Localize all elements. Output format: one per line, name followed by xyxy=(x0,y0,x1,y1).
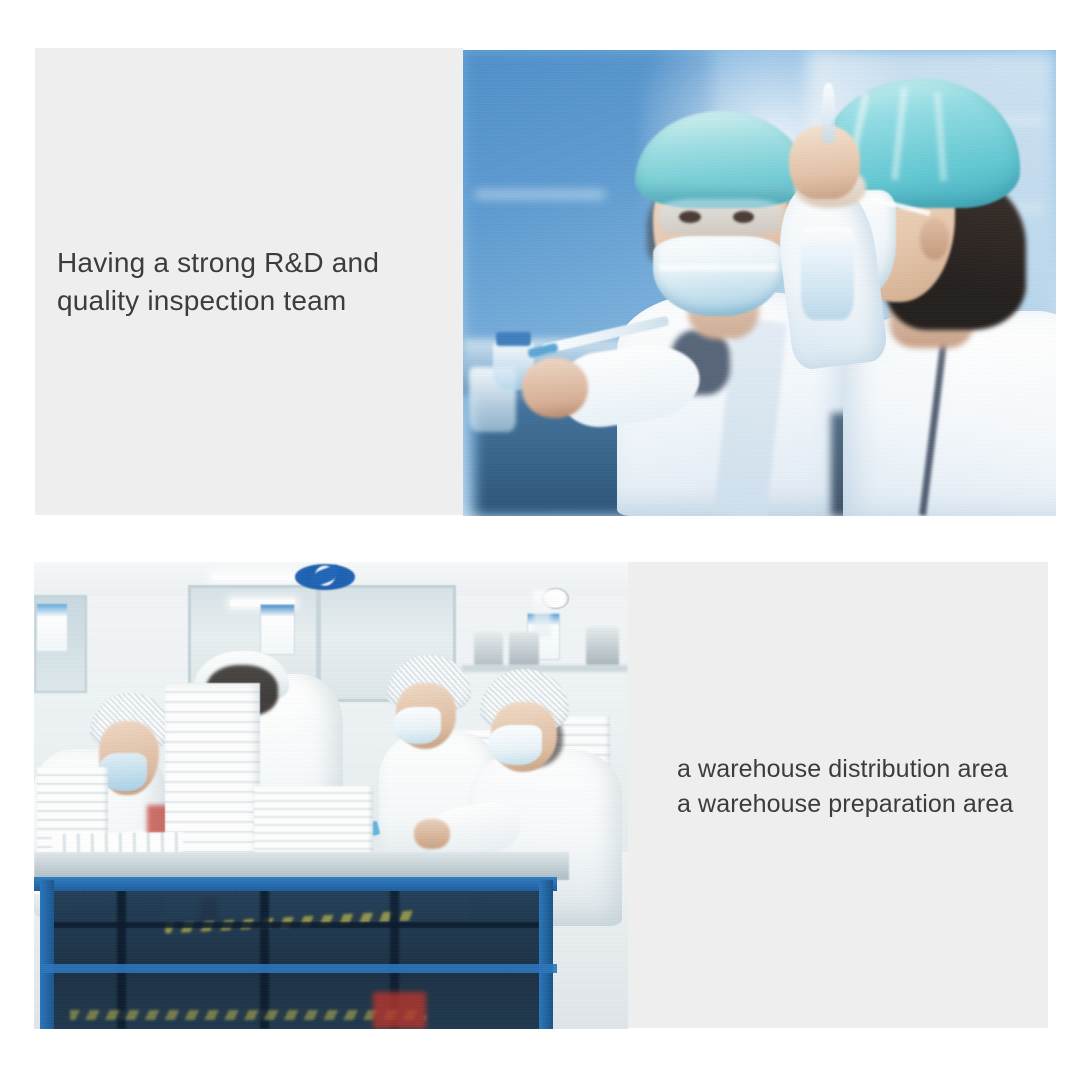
bottom-caption-text: a warehouse distribution area a warehous… xyxy=(677,752,1047,821)
technician-b-ear xyxy=(920,218,950,260)
blue-table-leg xyxy=(539,880,553,1029)
blue-table-rail xyxy=(40,964,557,973)
worker-3-face-mask xyxy=(393,707,441,744)
technician-b-shoulder-highlight xyxy=(949,330,1056,433)
ceiling-light xyxy=(212,574,295,580)
table-cross-bar xyxy=(52,922,539,929)
bottom-section: a warehouse distribution area a warehous… xyxy=(34,562,1048,1029)
table-support-beam xyxy=(260,889,270,1029)
hanging-curtain-strip xyxy=(533,590,551,637)
rd-quality-inspection-lab-photo xyxy=(463,50,1056,516)
wall-notice-board xyxy=(37,604,67,651)
box-stack xyxy=(254,786,373,861)
blue-table-frame xyxy=(34,877,557,891)
steel-canister xyxy=(474,632,504,665)
technician-a-left-eye xyxy=(679,211,700,223)
technician-a-safety-goggles xyxy=(659,199,784,236)
lab-shelf-left xyxy=(475,190,605,199)
equipment-shelf xyxy=(462,665,628,672)
marketing-image-page: Having a strong R&D and quality inspecti… xyxy=(0,0,1080,1080)
top-caption-panel: Having a strong R&D and quality inspecti… xyxy=(35,48,463,515)
steel-canister xyxy=(586,627,619,664)
top-caption-text: Having a strong R&D and quality inspecti… xyxy=(57,244,457,320)
top-section: Having a strong R&D and quality inspecti… xyxy=(35,48,1056,516)
technician-a-right-eye xyxy=(733,211,754,223)
technician-a-hand xyxy=(522,358,587,419)
wall-notice-board xyxy=(260,604,296,655)
worker-4-face-mask xyxy=(488,725,541,765)
technician-a-mask-fold xyxy=(659,264,778,271)
steel-canister xyxy=(509,632,539,665)
lab-reagent-bottle-cap xyxy=(496,332,532,346)
red-crate xyxy=(373,992,426,1029)
lab-tweezers xyxy=(822,83,835,144)
table-support-beam xyxy=(117,889,126,1029)
warehouse-packing-area-photo xyxy=(34,562,628,1029)
blue-table-leg xyxy=(40,880,54,1029)
lab-sample-vial xyxy=(801,227,854,320)
steel-table-top xyxy=(34,852,569,880)
worker-4-hand xyxy=(414,819,450,849)
bottom-caption-panel: a warehouse distribution area a warehous… xyxy=(628,562,1048,1028)
